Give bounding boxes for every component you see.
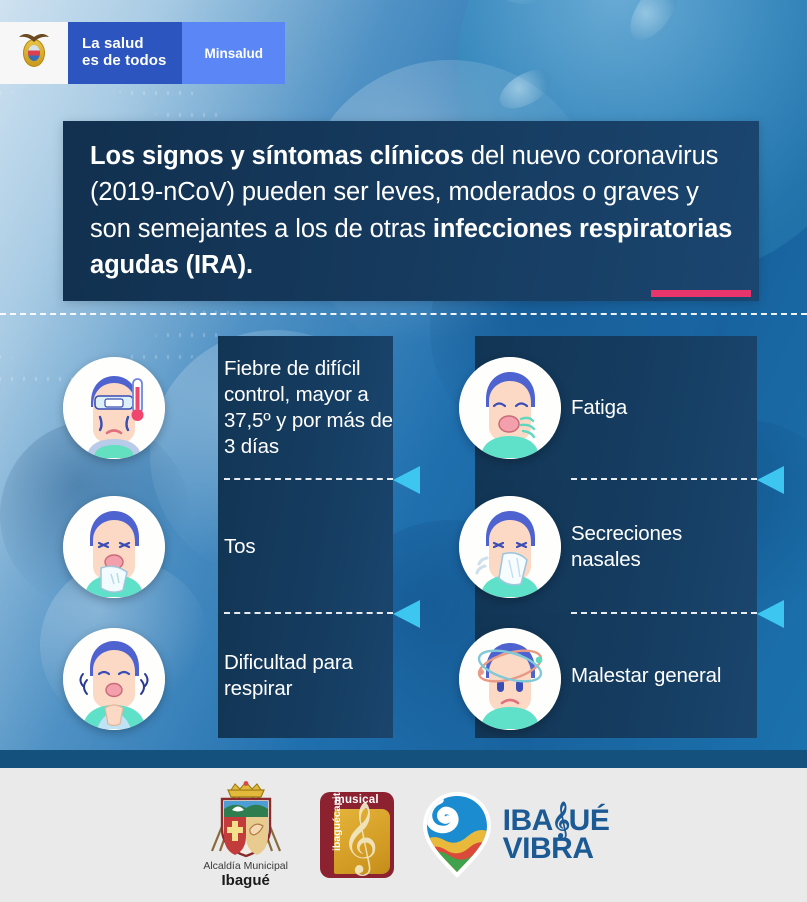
symptom-item[interactable]: Fiebre de difícil control, mayor a 37,5º… (218, 336, 393, 480)
headline-bold-lead: Los signos y síntomas clínicos (90, 142, 464, 170)
government-logo-bar: La salud es de todos Minsalud (0, 22, 285, 84)
treble-clef-icon: 𝄞 (342, 810, 379, 865)
arrow-marker-icon (393, 600, 420, 628)
colombia-coat-of-arms-icon (0, 22, 68, 84)
arrow-marker-icon (757, 466, 784, 494)
runny-nose-tissue-icon (459, 496, 561, 598)
symptom-label: Tos (218, 534, 255, 560)
arrow-marker-icon (393, 466, 420, 494)
condor-icon (18, 31, 50, 45)
fatigue-icon (459, 357, 561, 459)
dizzy-malaise-icon (459, 628, 561, 730)
alcaldia-line2: Ibagué (198, 872, 294, 889)
ibague-coat-of-arms-icon: Alcaldía Municipal Ibagué (198, 781, 294, 890)
symptom-column-right: Fatiga Secreciones nasales (475, 336, 757, 738)
symptom-label: Dificultad para respirar (218, 650, 393, 702)
tagline-line1: La salud (82, 35, 144, 52)
headline-text: Los signos y síntomas clínicos del nuevo… (90, 138, 733, 284)
location-pin-spiral-icon (420, 790, 494, 880)
vibra-word2: VIBRA (503, 835, 610, 863)
footer-accent-band (0, 750, 807, 768)
treble-clef-icon: 𝄞 (552, 808, 570, 833)
ibague-vibra-logo: IBA𝄞UÉ VIBRA (420, 790, 610, 880)
accent-bar (651, 290, 751, 297)
capital-musical-side-word: ibaguécapital (331, 792, 343, 851)
vibra-word1: IBA𝄞UÉ (503, 807, 610, 835)
symptom-column-left: Fiebre de difícil control, mayor a 37,5º… (218, 336, 393, 738)
symptom-item[interactable]: Fatiga (475, 336, 757, 480)
symptom-item[interactable]: Secreciones nasales (475, 480, 757, 614)
headline-panel: Los signos y síntomas clínicos del nuevo… (63, 121, 759, 301)
symptom-item[interactable]: Tos (218, 480, 393, 614)
coughing-icon (63, 496, 165, 598)
footer-logo-bar: Alcaldía Municipal Ibagué 𝄞 musical ibag… (0, 768, 807, 902)
symptom-item[interactable]: Malestar general (475, 614, 757, 738)
capital-musical-logo: 𝄞 musical ibaguécapital (320, 792, 394, 878)
shortness-of-breath-icon (63, 628, 165, 730)
section-divider (0, 313, 807, 315)
tagline-primary: La salud es de todos (68, 22, 182, 84)
fever-thermometer-icon (63, 357, 165, 459)
tagline-line2: es de todos (82, 52, 166, 69)
alcaldia-line1: Alcaldía Municipal (198, 861, 294, 873)
symptom-label: Fiebre de difícil control, mayor a 37,5º… (218, 356, 393, 461)
minsalud-label: Minsalud (182, 22, 285, 84)
arrow-marker-icon (757, 600, 784, 628)
symptom-item[interactable]: Dificultad para respirar (218, 614, 393, 738)
